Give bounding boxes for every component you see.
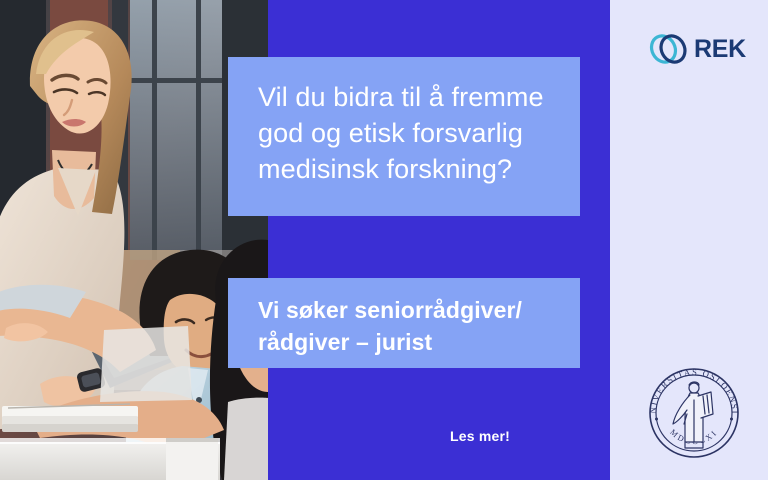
headline-text: Vil du bidra til å fremme god og etisk f… <box>258 79 554 187</box>
rek-interlocking-rings-icon <box>648 28 690 70</box>
job-title-text: Vi søker seniorrådgiver/ rådgiver – juri… <box>258 294 562 358</box>
rek-wordmark: REK <box>694 37 746 62</box>
recruitment-banner: Vil du bidra til å fremme god og etisk f… <box>0 0 768 480</box>
uio-seal[interactable]: UNIVERSITAS OSLOENSIS MDCCCXI <box>643 362 745 464</box>
rek-logo[interactable]: REK <box>648 26 748 72</box>
read-more-link[interactable]: Les mer! <box>228 428 580 444</box>
job-title-box: Vi søker seniorrådgiver/ rådgiver – juri… <box>228 278 580 368</box>
headline-box: Vil du bidra til å fremme god og etisk f… <box>228 57 580 216</box>
uio-seal-icon: UNIVERSITAS OSLOENSIS MDCCCXI <box>643 362 745 464</box>
